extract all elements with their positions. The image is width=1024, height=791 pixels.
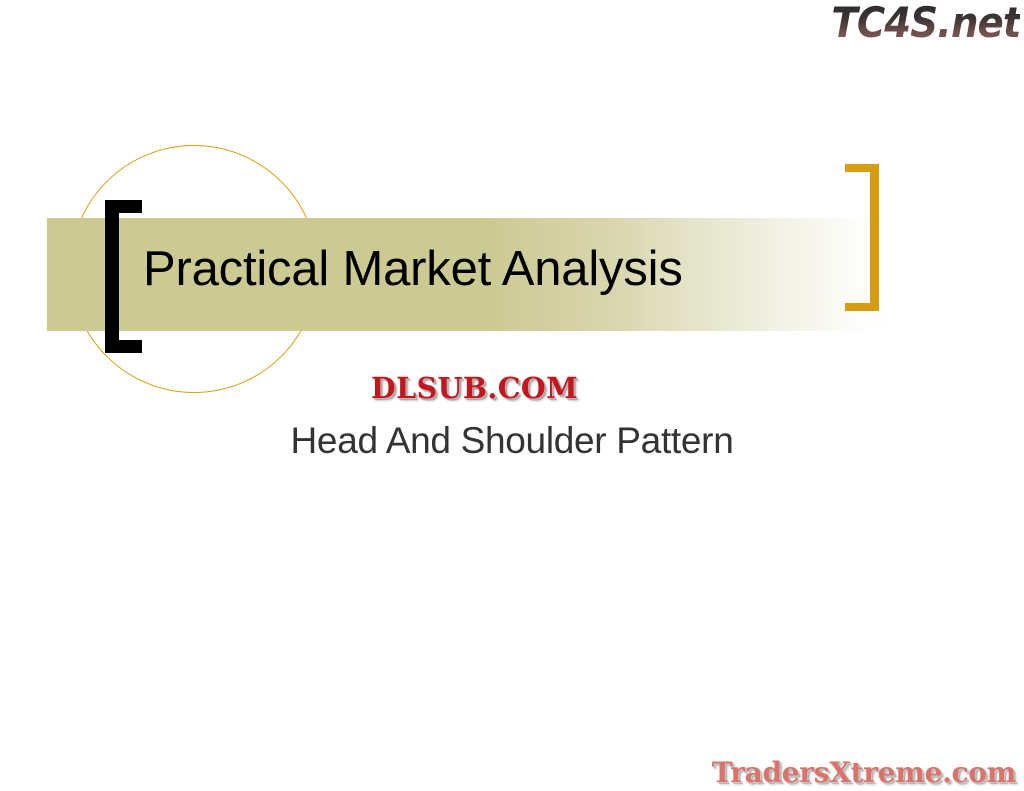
slide-subtitle: Head And Shoulder Pattern — [0, 420, 1024, 462]
slide-title: Practical Market Analysis — [143, 243, 683, 297]
left-bracket-icon — [105, 200, 142, 353]
dlsub-watermark: DLSUB.COM — [371, 374, 578, 403]
right-bracket-icon — [845, 164, 879, 311]
tradersxtreme-watermark: TradersXtreme.com — [712, 759, 1016, 787]
presentation-slide: TC4S.net Practical Market Analysis DLSUB… — [0, 0, 1024, 791]
tc4s-watermark: TC4S.net — [831, 2, 1020, 44]
